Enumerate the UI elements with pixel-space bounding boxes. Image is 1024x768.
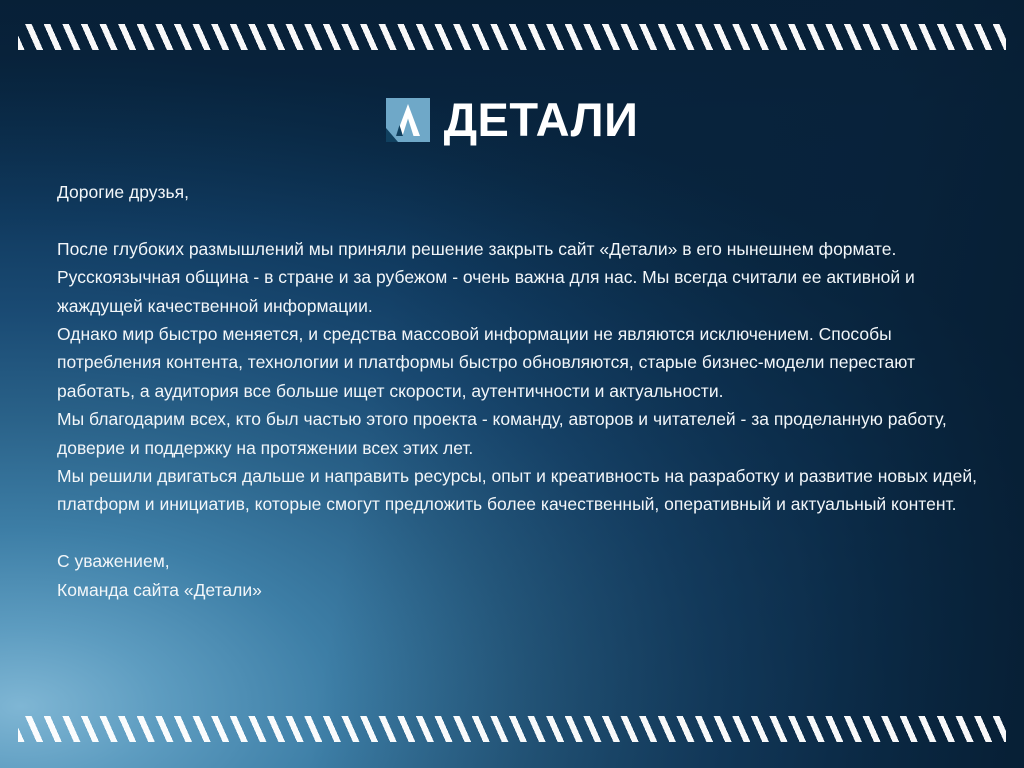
detaly-logo-icon <box>386 98 430 142</box>
slide-title-row: ДЕТАЛИ <box>0 96 1024 143</box>
letter-body: Дорогие друзья, После глубоких размышлен… <box>57 178 977 604</box>
paragraph-4: Мы решили двигаться дальше и направить р… <box>57 462 977 519</box>
paragraph-1: После глубоких размышлений мы приняли ре… <box>57 235 977 320</box>
bottom-hatch-band <box>18 716 1006 742</box>
page-title: ДЕТАЛИ <box>444 96 639 143</box>
announcement-slide: ДЕТАЛИ Дорогие друзья, После глубоких ра… <box>0 0 1024 768</box>
blank-line-1 <box>57 206 977 234</box>
blank-line-2 <box>57 519 977 547</box>
signoff-line-2: Команда сайта «Детали» <box>57 576 977 604</box>
paragraph-3: Мы благодарим всех, кто был частью этого… <box>57 405 977 462</box>
paragraph-2: Однако мир быстро меняется, и средства м… <box>57 320 977 405</box>
top-hatch-band <box>18 24 1006 50</box>
salutation: Дорогие друзья, <box>57 178 977 206</box>
signoff-line-1: С уважением, <box>57 547 977 575</box>
